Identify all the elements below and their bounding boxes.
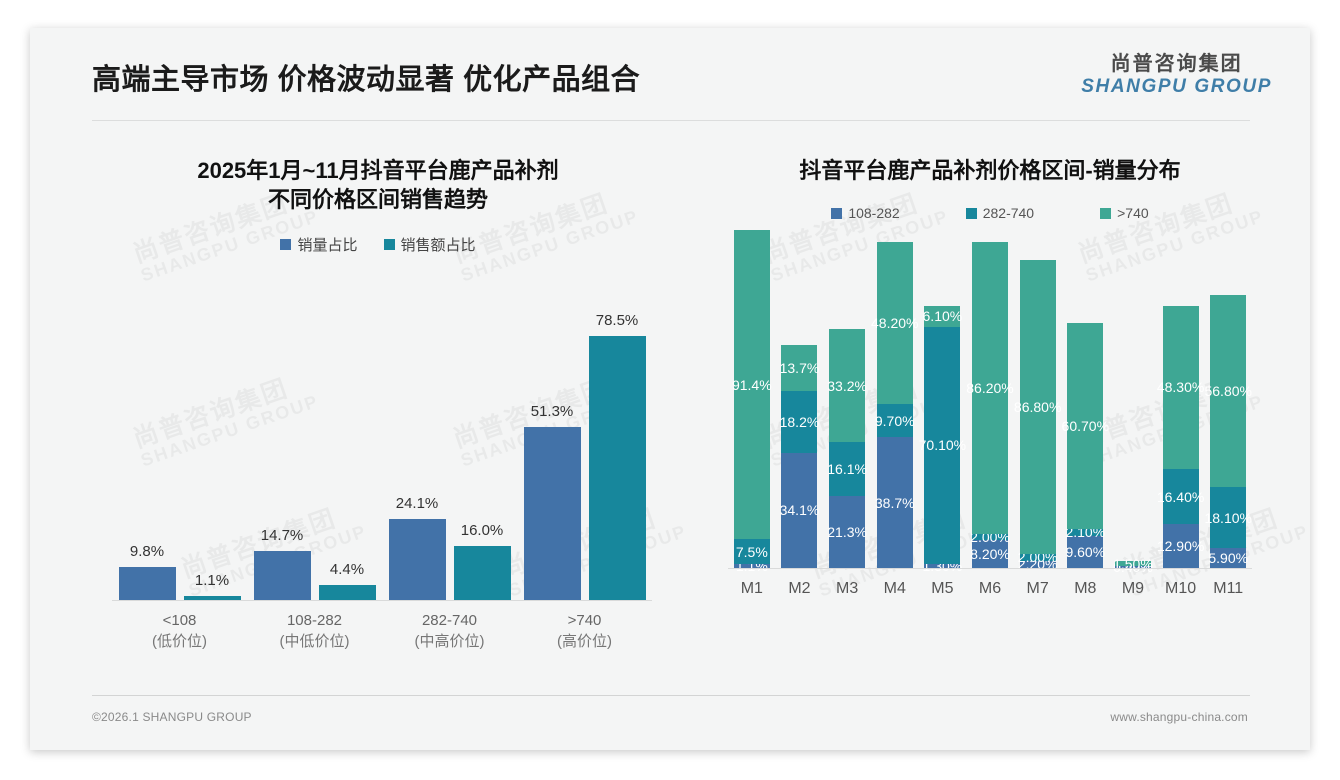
stack-segment-282-740[interactable]: 16.40% [1163, 469, 1199, 524]
stacked-bar: 1.1%7.5%91.4% [728, 230, 776, 568]
stacked-bar: 5.90%18.10%56.80% [1204, 295, 1252, 568]
stacked-bar: 8.20%2.00%86.20% [966, 242, 1014, 568]
stack-value-label: 56.80% [1204, 383, 1251, 399]
bar-sales-volume[interactable]: 14.7% [254, 551, 311, 601]
x-axis-label-month: M8 [1061, 578, 1109, 601]
x-axis-label-range: 108-282 [287, 612, 342, 629]
x-axis-label-month: M6 [966, 578, 1014, 601]
legend-swatch-icon [384, 239, 395, 250]
bar-value-label: 16.0% [461, 522, 504, 539]
stack-segment-108-282[interactable]: 2.20% [1020, 561, 1056, 568]
left-chart-legend: 销量占比销售额占比 [78, 234, 678, 255]
left-chart-plot: 9.8%1.1%14.7%4.4%24.1%16.0%51.3%78.5% <1… [112, 281, 652, 601]
stack-segment--740[interactable]: 6.10% [924, 306, 960, 327]
bar-sales-volume[interactable]: 24.1% [389, 519, 446, 600]
stacked-bar: 2.20%2.00%86.80% [1014, 260, 1062, 568]
stack-segment-282-740[interactable]: 7.5% [734, 539, 770, 564]
stack-value-label: 18.10% [1204, 510, 1251, 526]
left-chart-title-line1: 2025年1月~11月抖音平台鹿产品补剂 [197, 158, 558, 183]
stack-segment-282-740[interactable]: 2.10% [1067, 529, 1103, 536]
legend-swatch-icon [280, 239, 291, 250]
left-chart-bars: 9.8%1.1%14.7%4.4%24.1%16.0%51.3%78.5% [112, 281, 652, 600]
legend-item-right-1[interactable]: 108-282 [831, 205, 899, 221]
bar-group: 14.7%4.4% [247, 551, 382, 601]
right-chart-x-axis-labels: M1M2M3M4M5M6M7M8M9M10M11 [728, 569, 1252, 601]
x-axis-label-tier: (中低价位) [247, 631, 382, 652]
stack-segment-108-282[interactable]: 38.7% [877, 437, 913, 568]
x-axis-label-range: 282-740 [422, 612, 477, 629]
bar-sales-amount[interactable]: 16.0% [454, 546, 511, 600]
x-axis-label: 282-740(中高价位) [382, 610, 517, 653]
stack-segment--740[interactable]: 13.7% [781, 345, 817, 391]
stack-value-label: 8.20% [970, 546, 1010, 562]
x-axis-label: >740(高价位) [517, 610, 652, 653]
header-divider [92, 120, 1250, 121]
stack-value-label: 18.2% [780, 414, 820, 430]
bar-value-label: 24.1% [396, 495, 439, 512]
x-axis-label-month: M5 [919, 578, 967, 601]
stack-segment--740[interactable]: 33.2% [829, 329, 865, 441]
logo-english-text: SHANGPU GROUP [1081, 77, 1272, 96]
left-chart-x-axis-labels: <108(低价位)108-282(中低价位)282-740(中高价位)>740(… [112, 601, 652, 653]
legend-label: 282-740 [983, 205, 1034, 221]
stack-value-label: 21.3% [827, 524, 867, 540]
bar-value-label: 4.4% [330, 561, 364, 578]
bar-sales-amount[interactable]: 78.5% [589, 336, 646, 600]
footer-copyright: ©2026.1 SHANGPU GROUP [92, 710, 252, 724]
legend-swatch-icon [966, 208, 977, 219]
legend-item-right-2[interactable]: 282-740 [966, 205, 1034, 221]
stacked-bar: 12.90%16.40%48.30% [1157, 306, 1205, 568]
right-chart-bars: 1.1%7.5%91.4%34.1%18.2%13.7%21.3%16.1%33… [728, 231, 1252, 568]
stack-value-label: 60.70% [1062, 418, 1109, 434]
stack-segment-282-740[interactable]: 2.00% [972, 534, 1008, 541]
x-axis-label-month: M10 [1157, 578, 1205, 601]
footer-website: www.shangpu-china.com [1110, 710, 1248, 724]
x-axis-label: 108-282(中低价位) [247, 610, 382, 653]
stack-segment-282-740[interactable]: 70.10% [924, 327, 960, 564]
legend-label: 108-282 [848, 205, 899, 221]
legend-label: 销售额占比 [401, 234, 476, 255]
bar-value-label: 51.3% [531, 403, 574, 420]
stack-value-label: 86.20% [966, 380, 1013, 396]
x-axis-label-month: M11 [1204, 578, 1252, 601]
right-chart-title: 抖音平台鹿产品补剂价格区间-销量分布 [754, 156, 1226, 185]
legend-swatch-icon [1100, 208, 1111, 219]
stack-value-label: 38.7% [875, 495, 915, 511]
stack-value-label: 48.30% [1157, 379, 1204, 395]
x-axis-label-tier: (中高价位) [382, 631, 517, 652]
stacked-bar: 1.30%70.10%6.10% [919, 306, 967, 568]
left-chart-title-line2: 不同价格区间销售趋势 [268, 187, 488, 212]
legend-label: 销量占比 [297, 234, 357, 255]
logo-chinese-text: 尚普咨询集团 [1081, 54, 1272, 74]
x-axis-label-month: M2 [776, 578, 824, 601]
stack-value-label: 16.1% [827, 461, 867, 477]
stack-value-label: 6.10% [923, 308, 963, 324]
stacked-bar: 38.7%9.70%48.20% [871, 242, 919, 568]
stacked-bar: 34.1%18.2%13.7% [776, 345, 824, 568]
bar-value-label: 9.8% [130, 543, 164, 560]
stack-segment--740[interactable]: 60.70% [1067, 323, 1103, 528]
stack-value-label: 70.10% [919, 437, 966, 453]
stack-segment-282-740[interactable]: 18.2% [781, 391, 817, 453]
right-chart-legend: 108-282282-740>740 [702, 205, 1278, 221]
page-title: 高端主导市场 价格波动显著 优化产品组合 [92, 56, 640, 98]
stack-segment--740[interactable]: 86.20% [972, 242, 1008, 533]
x-axis-label-range: >740 [568, 612, 602, 629]
x-axis-label-month: M7 [1014, 578, 1062, 601]
x-axis-label-range: <108 [163, 612, 197, 629]
stacked-bar: 0.40%1.50% [1109, 561, 1157, 568]
stack-value-label: 86.80% [1014, 399, 1061, 415]
stack-segment-108-282[interactable]: 8.20% [972, 540, 1008, 568]
slide-header: 高端主导市场 价格波动显著 优化产品组合 尚普咨询集团 SHANGPU GROU… [30, 28, 1310, 120]
stack-segment--740[interactable]: 56.80% [1210, 295, 1246, 487]
legend-item-left-1[interactable]: 销量占比 [280, 234, 357, 255]
brand-logo: 尚普咨询集团 SHANGPU GROUP [1081, 54, 1272, 96]
stack-segment-108-282[interactable]: 21.3% [829, 496, 865, 568]
bar-value-label: 1.1% [195, 572, 229, 589]
stack-value-label: 12.90% [1157, 538, 1204, 554]
stack-value-label: 34.1% [780, 502, 820, 518]
stack-segment-108-282[interactable]: 5.90% [1210, 548, 1246, 568]
bar-value-label: 78.5% [596, 312, 639, 329]
bar-group: 9.8%1.1% [112, 567, 247, 600]
legend-item-right-3[interactable]: >740 [1100, 205, 1149, 221]
bar-group: 51.3%78.5% [517, 336, 652, 600]
stack-segment--740[interactable]: 48.20% [877, 242, 913, 405]
bar-sales-volume[interactable]: 51.3% [524, 427, 581, 600]
stack-value-label: 91.4% [732, 377, 772, 393]
stack-segment--740[interactable]: 48.30% [1163, 306, 1199, 469]
stack-value-label: 13.7% [780, 360, 820, 376]
stack-value-label: 33.2% [827, 378, 867, 394]
stack-value-label: 9.70% [875, 413, 915, 429]
stacked-bar: 9.60%2.10%60.70% [1061, 323, 1109, 568]
slide-canvas: 高端主导市场 价格波动显著 优化产品组合 尚普咨询集团 SHANGPU GROU… [30, 28, 1310, 750]
x-axis-label-month: M4 [871, 578, 919, 601]
bar-group: 24.1%16.0% [382, 519, 517, 600]
stack-value-label: 48.20% [871, 315, 918, 331]
stack-segment--740[interactable]: 91.4% [734, 230, 770, 539]
x-axis-label-month: M1 [728, 578, 776, 601]
stack-segment--740[interactable]: 86.80% [1020, 260, 1056, 553]
chart-panel-right: 抖音平台鹿产品补剂价格区间-销量分布 108-282282-740>740 1.… [702, 132, 1278, 692]
stack-value-label: 5.90% [1208, 550, 1248, 566]
stack-segment-282-740[interactable]: 18.10% [1210, 487, 1246, 548]
stack-value-label: 7.5% [736, 544, 768, 560]
stack-segment--740[interactable]: 1.50% [1115, 561, 1151, 566]
chart-panel-left: 2025年1月~11月抖音平台鹿产品补剂 不同价格区间销售趋势 销量占比销售额占… [78, 132, 678, 692]
x-axis-label-tier: (高价位) [517, 631, 652, 652]
right-chart-plot: 1.1%7.5%91.4%34.1%18.2%13.7%21.3%16.1%33… [728, 231, 1252, 569]
x-axis-label-month: M3 [823, 578, 871, 601]
stack-segment-108-282[interactable]: 9.60% [1067, 536, 1103, 568]
stack-value-label: 9.60% [1065, 544, 1105, 560]
x-axis-label-tier: (低价位) [112, 631, 247, 652]
legend-label: >740 [1117, 205, 1149, 221]
legend-item-left-2[interactable]: 销售额占比 [384, 234, 476, 255]
stack-value-label: 16.40% [1157, 489, 1204, 505]
stacked-bar: 21.3%16.1%33.2% [823, 329, 871, 568]
stack-segment-108-282[interactable]: 12.90% [1163, 524, 1199, 568]
bar-sales-volume[interactable]: 9.8% [119, 567, 176, 600]
footer-divider [92, 695, 1250, 696]
x-axis-label: <108(低价位) [112, 610, 247, 653]
legend-swatch-icon [831, 208, 842, 219]
stack-segment-282-740[interactable]: 16.1% [829, 442, 865, 496]
stack-segment-282-740[interactable]: 9.70% [877, 404, 913, 437]
left-chart-title: 2025年1月~11月抖音平台鹿产品补剂 不同价格区间销售趋势 [120, 156, 636, 214]
bar-sales-amount[interactable]: 4.4% [319, 585, 376, 600]
bar-value-label: 14.7% [261, 527, 304, 544]
stack-segment-282-740[interactable]: 2.00% [1020, 554, 1056, 561]
stack-segment-108-282[interactable]: 34.1% [781, 453, 817, 568]
x-axis-label-month: M9 [1109, 578, 1157, 601]
